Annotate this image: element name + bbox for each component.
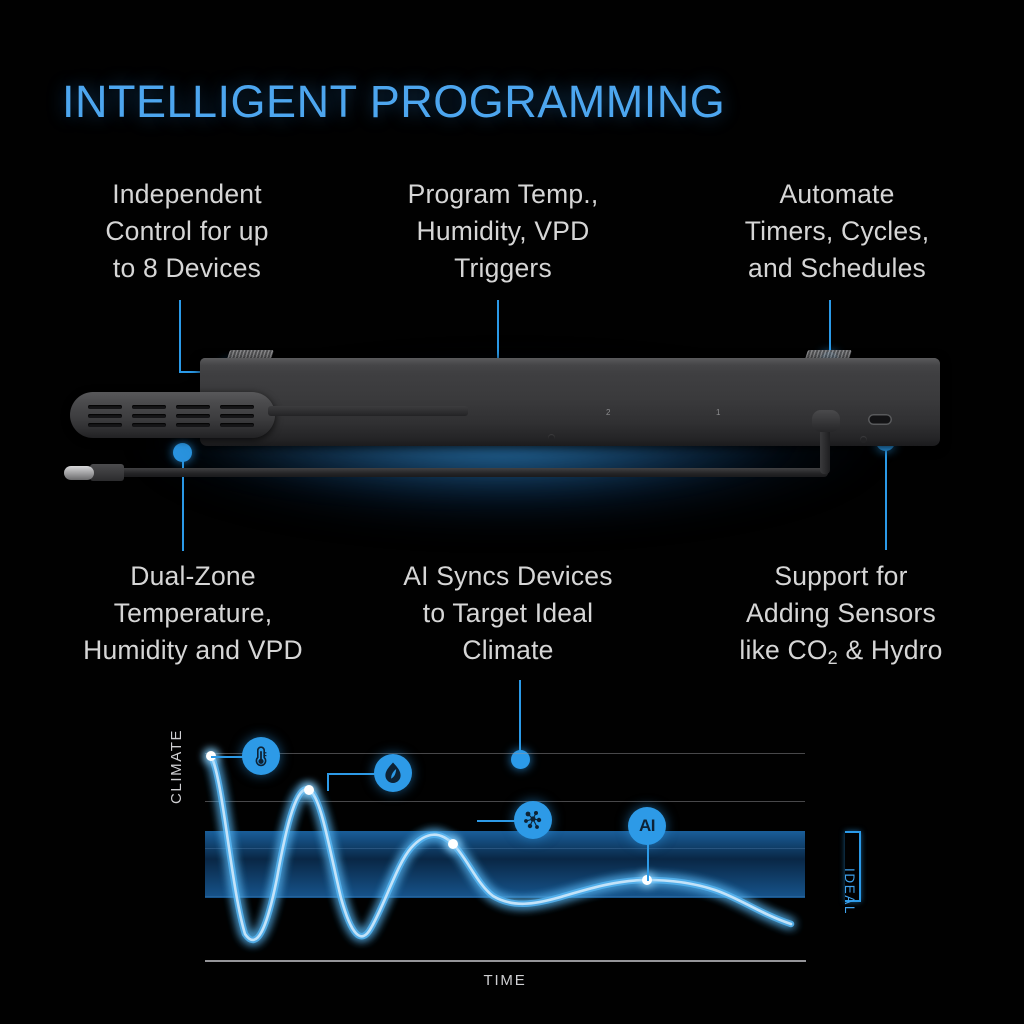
callout-line: Control for up	[56, 213, 318, 250]
probe-extension-rod	[108, 468, 828, 477]
probe-vent	[88, 405, 122, 409]
callout-line: Automate	[706, 176, 968, 213]
controller-top-edge	[200, 358, 940, 366]
callout-line: Climate	[368, 632, 648, 669]
callout-line: Program Temp.,	[372, 176, 634, 213]
sensor-cable-plug	[812, 410, 840, 432]
page-title: INTELLIGENT PROGRAMMING	[62, 76, 725, 128]
callout-dual-zone: Dual-Zone Temperature, Humidity and VPD	[58, 558, 328, 669]
probe-cable	[268, 406, 468, 416]
usb-c-port	[868, 414, 892, 425]
callout-line: Support for	[700, 558, 982, 595]
co2-molecule-icon[interactable]	[514, 801, 552, 839]
callout-line: and Schedules	[706, 250, 968, 287]
callout-sensor-support: Support for Adding Sensors like CO2 & Hy…	[700, 558, 982, 677]
probe-vent	[132, 414, 166, 418]
climate-chart: CLIMATE TIME	[160, 726, 870, 1016]
probe-vent	[132, 423, 166, 427]
probe-metal-tip	[64, 466, 94, 480]
probe-vent	[176, 414, 210, 418]
thermometer-icon[interactable]	[242, 737, 280, 775]
probe-vent	[220, 405, 254, 409]
callout-co2-prefix: like CO	[739, 635, 827, 665]
probe-vent	[176, 405, 210, 409]
callout-line-co2: like CO2 & Hydro	[700, 632, 982, 677]
chart-y-axis-label: CLIMATE	[168, 729, 185, 804]
callout-line: Dual-Zone	[58, 558, 328, 595]
ai-icon-label: AI	[639, 816, 655, 836]
callout-line: Adding Sensors	[700, 595, 982, 632]
probe-jack-collar	[90, 464, 124, 481]
product-photo: 2 1	[0, 330, 1024, 540]
callout-independent-control: Independent Control for up to 8 Devices	[56, 176, 318, 287]
callout-automate-schedules: Automate Timers, Cycles, and Schedules	[706, 176, 968, 287]
chart-x-axis-label: TIME	[160, 972, 850, 989]
ai-icon[interactable]: AI	[628, 807, 666, 845]
callout-line: Independent	[56, 176, 318, 213]
callout-line: Timers, Cycles,	[706, 213, 968, 250]
callout-co2-suffix: & Hydro	[838, 635, 943, 665]
callout-line: to Target Ideal	[368, 595, 648, 632]
port-label-1: 1	[716, 408, 720, 417]
probe-vent	[176, 423, 210, 427]
chart-ideal-label: IDEAL	[842, 868, 857, 915]
humidity-leaf-icon[interactable]	[374, 754, 412, 792]
probe-vent	[88, 423, 122, 427]
chart-climate-curve	[205, 738, 805, 960]
probe-vent	[132, 405, 166, 409]
chart-tick-humidity-riser	[327, 773, 329, 791]
callout-ai-syncs: AI Syncs Devices to Target Ideal Climate	[368, 558, 648, 669]
chart-x-axis	[205, 960, 806, 962]
probe-vent	[88, 414, 122, 418]
callout-line: to 8 Devices	[56, 250, 318, 287]
marketing-infographic: INTELLIGENT PROGRAMMING Independent Cont…	[0, 0, 1024, 1024]
callout-line: Humidity, VPD	[372, 213, 634, 250]
chart-node-co2[interactable]	[448, 839, 458, 849]
device-screw	[860, 436, 867, 443]
callout-line: Temperature,	[58, 595, 328, 632]
callout-line: Humidity and VPD	[58, 632, 328, 669]
chart-plot-area: AI IDEAL	[205, 738, 805, 960]
callout-co2-subscript: 2	[828, 648, 838, 668]
probe-vent	[220, 423, 254, 427]
chart-node-humidity[interactable]	[304, 785, 314, 795]
callout-program-triggers: Program Temp., Humidity, VPD Triggers	[372, 176, 634, 287]
device-screw	[548, 434, 555, 441]
callout-line: AI Syncs Devices	[368, 558, 648, 595]
callout-line: Triggers	[372, 250, 634, 287]
sensor-probe	[70, 392, 275, 438]
probe-vent	[220, 414, 254, 418]
port-label-2: 2	[606, 408, 610, 417]
